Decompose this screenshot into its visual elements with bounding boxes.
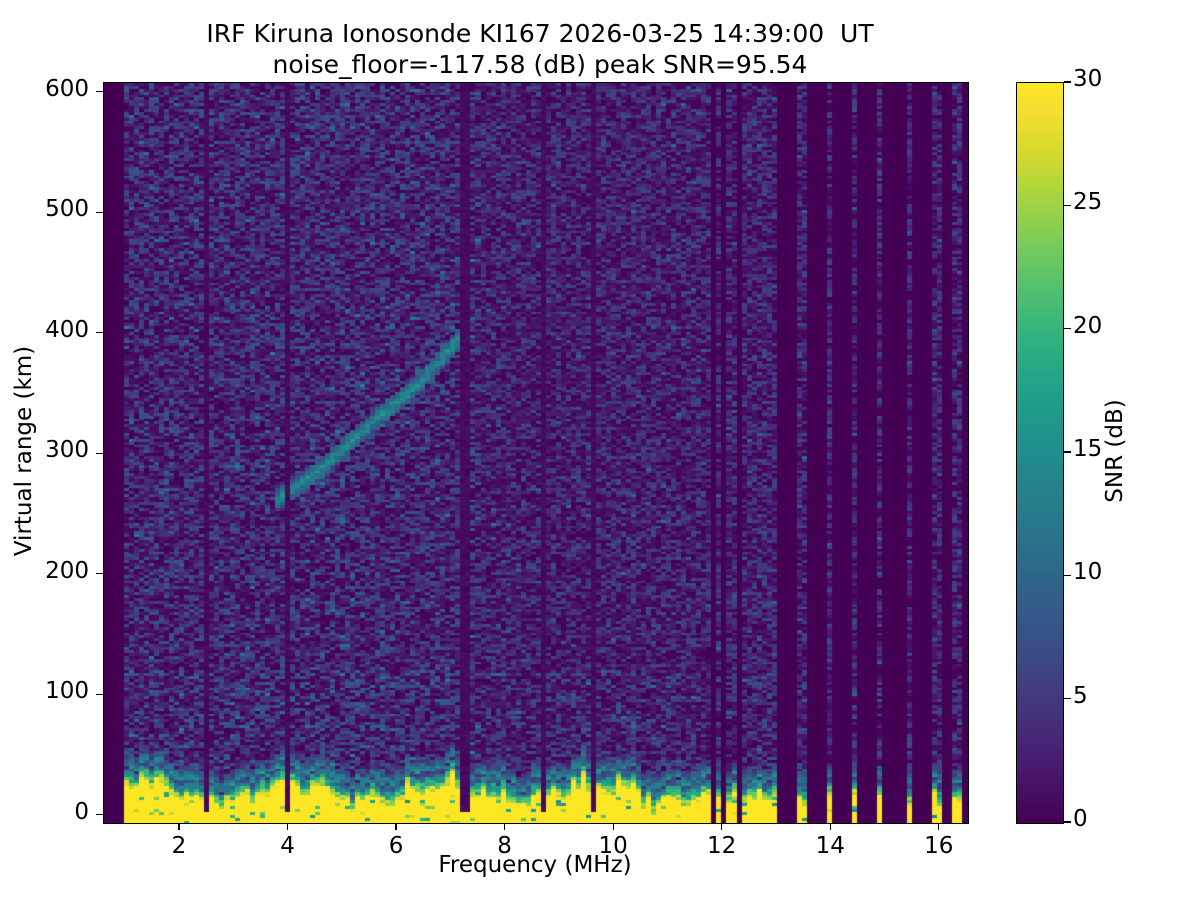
colorbar-tick-mark — [1064, 575, 1071, 576]
y-tick-mark — [96, 814, 103, 815]
colorbar-tick-mark — [1064, 451, 1071, 452]
x-tick-mark — [830, 823, 831, 830]
colorbar-tick-mark — [1064, 698, 1071, 699]
colorbar-tick-label: 0 — [1073, 806, 1088, 832]
y-tick-mark — [96, 212, 103, 213]
colorbar-label: SNR (dB) — [1102, 81, 1128, 821]
x-tick-mark — [178, 823, 179, 830]
y-tick-mark — [96, 694, 103, 695]
colorbar-tick-label: 15 — [1073, 436, 1102, 462]
x-tick-mark — [287, 823, 288, 830]
figure-title: IRF Kiruna Ionosonde KI167 2026-03-25 14… — [0, 18, 1080, 80]
colorbar-tick-mark — [1064, 821, 1071, 822]
y-tick-mark — [96, 332, 103, 333]
title-line-1: IRF Kiruna Ionosonde KI167 2026-03-25 14… — [0, 18, 1080, 49]
colorbar-gradient — [1017, 83, 1063, 823]
colorbar-tick-mark — [1064, 205, 1071, 206]
colorbar-tick-label: 30 — [1073, 66, 1102, 92]
y-tick-mark — [96, 573, 103, 574]
colorbar-tick-label: 25 — [1073, 189, 1102, 215]
colorbar-tick-label: 10 — [1073, 559, 1102, 585]
colorbar[interactable] — [1016, 82, 1064, 824]
x-tick-mark — [613, 823, 614, 830]
x-tick-mark — [721, 823, 722, 830]
y-axis-label: Virtual range (km) — [11, 81, 37, 821]
plot-area[interactable] — [103, 82, 969, 824]
title-line-2: noise_floor=-117.58 (dB) peak SNR=95.54 — [0, 49, 1080, 80]
ionogram-figure: IRF Kiruna Ionosonde KI167 2026-03-25 14… — [0, 0, 1200, 900]
y-tick-mark — [96, 91, 103, 92]
colorbar-tick-label: 5 — [1073, 683, 1088, 709]
colorbar-tick-mark — [1064, 328, 1071, 329]
x-tick-mark — [938, 823, 939, 830]
y-tick-mark — [96, 453, 103, 454]
ionogram-heatmap[interactable] — [104, 83, 968, 823]
colorbar-tick-mark — [1064, 81, 1071, 82]
x-axis-label: Frequency (MHz) — [103, 852, 967, 878]
x-tick-mark — [504, 823, 505, 830]
x-tick-mark — [395, 823, 396, 830]
colorbar-tick-label: 20 — [1073, 313, 1102, 339]
